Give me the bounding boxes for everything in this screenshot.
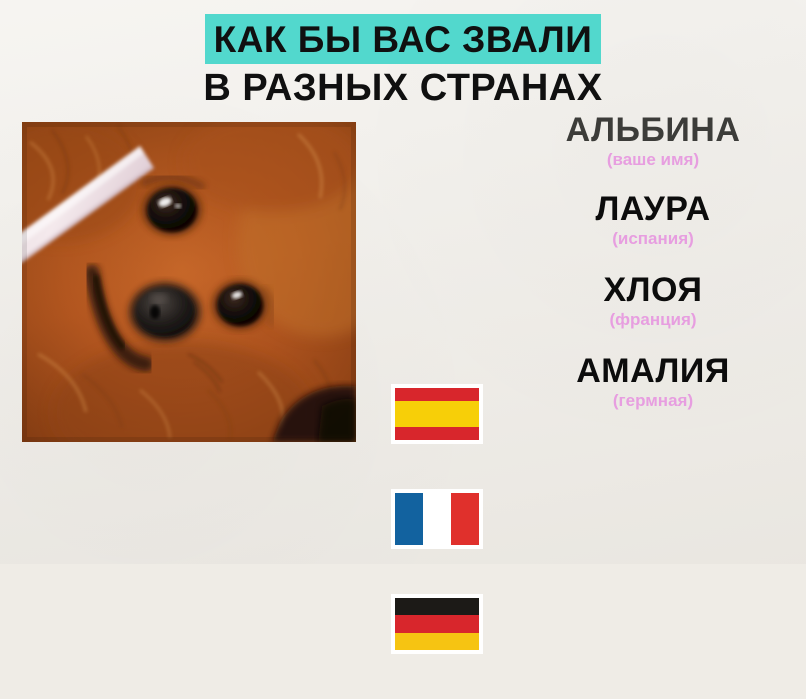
name-value: АМАЛИЯ xyxy=(500,353,806,390)
headline-line-2: В РАЗНЫХ СТРАНАХ xyxy=(0,69,806,109)
flag-band-yellow xyxy=(395,401,479,427)
flag-band-red-top xyxy=(395,388,479,401)
flag-slot-your-name xyxy=(387,112,487,384)
flag-slot-france xyxy=(387,489,487,594)
name-entry-your-name: АЛЬБИНА (ваше имя) xyxy=(500,112,806,169)
flag-slot-spain xyxy=(387,384,487,489)
headline-line-1: КАК БЫ ВАС ЗВАЛИ xyxy=(205,14,602,64)
name-country-note: (ваше имя) xyxy=(500,151,806,170)
name-entry-germany: АМАЛИЯ (гермная) xyxy=(500,353,806,410)
flag-spain xyxy=(391,384,483,444)
flag-band-red-bottom xyxy=(395,427,479,440)
name-country-note: (франция) xyxy=(500,311,806,330)
name-list: АЛЬБИНА (ваше имя) ЛАУРА (испания) ХЛОЯ … xyxy=(500,112,806,422)
headline: КАК БЫ ВАС ЗВАЛИ В РАЗНЫХ СТРАНАХ xyxy=(0,14,806,109)
flag-band-blue xyxy=(395,493,423,545)
name-value: ЛАУРА xyxy=(500,191,806,228)
flag-france xyxy=(391,489,483,549)
flag-band-black xyxy=(395,598,479,615)
name-entry-spain: ЛАУРА (испания) xyxy=(500,191,806,248)
name-entry-france: ХЛОЯ (франция) xyxy=(500,272,806,329)
name-value: ХЛОЯ xyxy=(500,272,806,309)
dog-photo xyxy=(22,122,356,442)
flag-band-red xyxy=(395,615,479,632)
flag-band-white xyxy=(423,493,451,545)
flag-slot-germany xyxy=(387,594,487,699)
flag-band-red xyxy=(451,493,479,545)
name-country-note: (испания) xyxy=(500,230,806,249)
dog-photo-image xyxy=(22,122,356,442)
flag-band-gold xyxy=(395,633,479,650)
dog-nose xyxy=(129,282,201,342)
flag-column xyxy=(387,112,487,699)
name-country-note: (гермная) xyxy=(500,392,806,411)
flag-germany xyxy=(391,594,483,654)
name-value: АЛЬБИНА xyxy=(500,112,806,149)
